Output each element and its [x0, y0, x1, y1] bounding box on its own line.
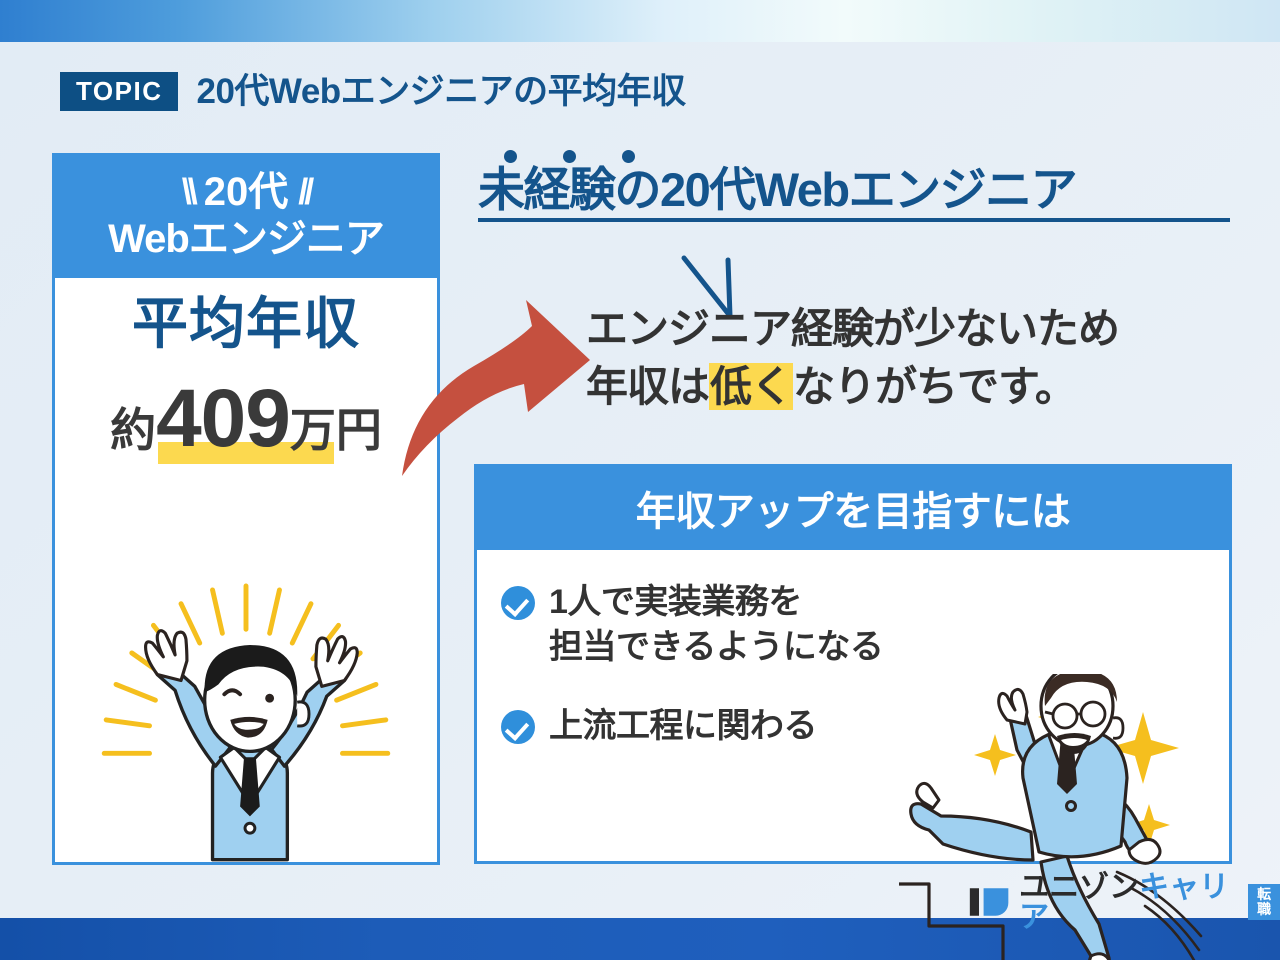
card-header-line2: Webエンジニア [55, 216, 437, 262]
emphasis-dots [478, 150, 1238, 163]
list-item-label: 上流工程に関わる [549, 704, 817, 749]
cheering-businessman-illustration [55, 562, 437, 862]
emphasis-dot [504, 150, 517, 163]
card-header-age: 20代 [204, 170, 289, 214]
check-circle-icon [501, 586, 535, 620]
card-header-line1: \\ 20代 // [55, 170, 437, 214]
explanation-highlight: 低く [709, 363, 793, 410]
logo-badge: 転 職 [1248, 884, 1280, 919]
amount-unit: 万円 [290, 404, 382, 456]
top-gradient-band [0, 0, 1280, 42]
amount-value: 409 [156, 373, 290, 464]
explanation-line-2: 年収は低くなりがちです。 [586, 358, 1119, 416]
emphasis-dot [563, 150, 576, 163]
slash-left-decoration: \\ [182, 172, 194, 212]
emphasis-dot [622, 150, 635, 163]
amount-prefix: 約 [110, 404, 156, 456]
logo-badge-line1: 転 [1252, 887, 1276, 902]
topic-badge: TOPIC [60, 72, 178, 111]
infographic-canvas: TOPIC 20代Webエンジニアの平均年収 \\ 20代 // Webエンジニ… [0, 0, 1280, 960]
logo-badge-line2: 職 [1252, 902, 1276, 917]
card-header: \\ 20代 // Webエンジニア [55, 156, 437, 278]
list-item-label: 1人で実装業務を 担当できるようになる [549, 580, 883, 670]
check-circle-icon [501, 710, 535, 744]
explanation-line2-after: なりがちです。 [793, 363, 1076, 410]
logo-wordmark: ユニゾンキャリア [1019, 873, 1239, 933]
explanation-text: エンジニア経験が少ないため 年収は低くなりがちです。 [586, 300, 1119, 416]
average-salary-card: \\ 20代 // Webエンジニア 平均年収 約409万円 [52, 153, 440, 865]
panel-heading: 年収アップを目指すには [477, 467, 1229, 550]
curved-red-arrow-icon [378, 282, 608, 492]
brand-logo: ユニゾンキャリア 転 職 [968, 872, 1280, 932]
slash-right-decoration: // [298, 172, 310, 212]
heading-underline [478, 218, 1230, 222]
page-header: TOPIC 20代Webエンジニアの平均年収 [60, 72, 686, 111]
inexperienced-heading-block: 未経験の20代Webエンジニア [478, 150, 1238, 222]
inexperienced-heading: 未経験の20代Webエンジニア [478, 165, 1238, 214]
logo-mark-icon [968, 885, 1010, 919]
list-item: 1人で実装業務を 担当できるようになる [501, 580, 1229, 670]
salary-up-panel: 年収アップを目指すには 1人で実装業務を 担当できるようになる 上流工程に関わる [474, 464, 1232, 864]
explanation-line-1: エンジニア経験が少ないため [586, 300, 1119, 358]
page-title: 20代Webエンジニアの平均年収 [196, 74, 685, 109]
logo-wordmark-part1: ユニゾン [1019, 871, 1139, 904]
